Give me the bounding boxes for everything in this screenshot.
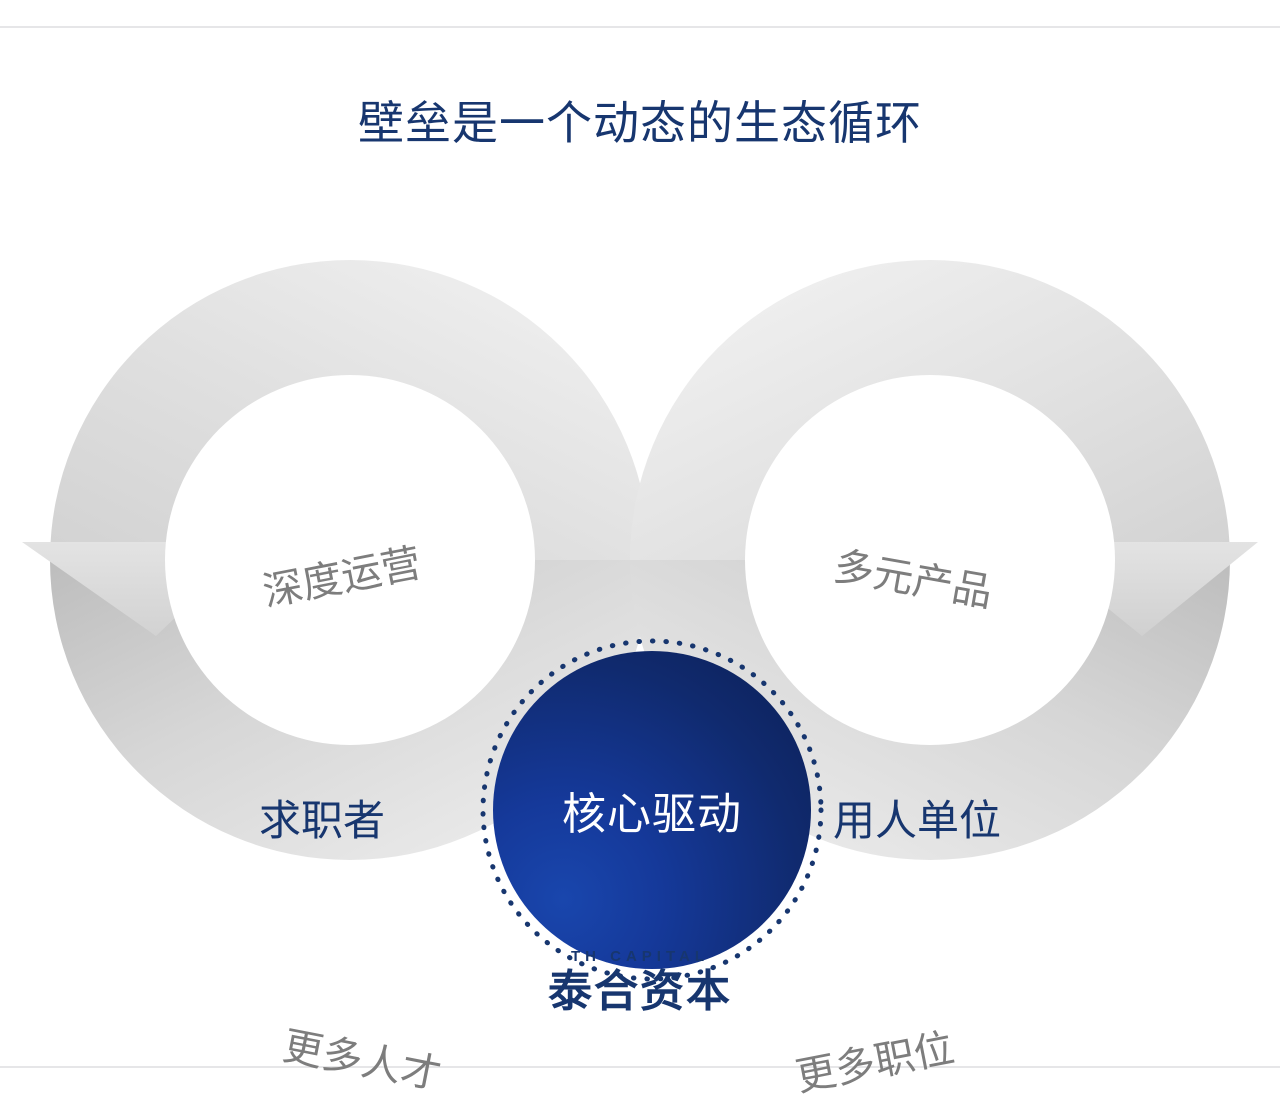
left-ring-inner-label: 求职者 [259, 796, 385, 846]
cycle-diagram: 深度运营 多元产品 更多人才 更多职位 求职者 用人单位 核心驱动 [0, 250, 1280, 910]
right-ring-bottom-label: 更多职位 [792, 1025, 958, 1101]
logo-chinese-text: 泰合资本 [0, 967, 1280, 1017]
bottom-divider [0, 1066, 1280, 1068]
right-ring-inner-label: 用人单位 [833, 796, 1001, 846]
logo-english-text: TH CAPITAL [0, 948, 1280, 966]
left-ring-bottom-label: 更多人才 [279, 1023, 445, 1099]
brand-logo: TH CAPITAL 泰合资本 [0, 948, 1280, 1017]
page-title: 壁垒是一个动态的生态循环 [0, 95, 1280, 151]
top-divider [0, 26, 1280, 28]
core-label: 核心驱动 [493, 651, 811, 969]
slide-canvas: 壁垒是一个动态的生态循环 [0, 0, 1280, 1102]
